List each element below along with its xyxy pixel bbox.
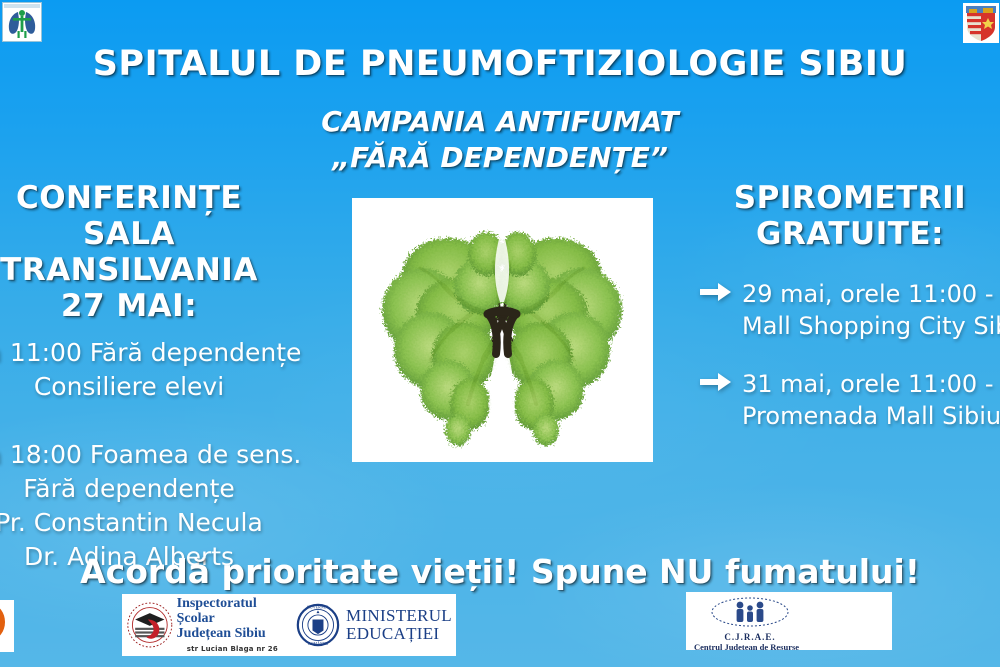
isj-line-1: Inspectoratul Școlar xyxy=(177,597,288,626)
slogan-text: Acordă prioritate vieții! Spune NU fumat… xyxy=(0,552,1000,591)
page-title: SPITALUL DE PNEUMOFTIZIOLOGIE SIBIU xyxy=(0,44,1000,84)
arrow-right-glyph xyxy=(700,282,732,302)
spirometry-entry-1-line-2: Mall Shopping City Sibiu xyxy=(700,310,1000,342)
spirometry-column: SPIROMETRII GRATUITE: 29 mai, orele 11:0… xyxy=(700,180,1000,432)
spirometry-entry-2-line-2: Promenada Mall Sibiu xyxy=(700,400,1000,432)
lungs-logo xyxy=(2,2,42,42)
spirometry-entry-2-line-1: 31 mai, orele 11:00 - 17:00 xyxy=(742,368,1000,400)
conference-event-2-line-3: Pr. Constantin Necula xyxy=(0,506,304,540)
spirometry-entry-2: 31 mai, orele 11:00 - 17:00 Promenada Ma… xyxy=(700,368,1000,432)
orange-logo-icon xyxy=(0,600,14,652)
spirometry-entry-1-line-1: 29 mai, orele 11:00 - 17:00 xyxy=(742,278,1000,310)
arrow-right-glyph xyxy=(700,372,732,392)
campaign-line-2: „FĂRĂ DEPENDENȚE” xyxy=(0,140,1000,176)
isj-address: str Lucian Blaga nr 26 xyxy=(177,645,288,653)
cjrae-acronym: C.J.R.A.E. xyxy=(686,632,814,642)
cjrae-line-1: Centrul Județean de Resurse xyxy=(686,642,892,650)
government-seal-icon: GUVERNUL ROMÂNIEI xyxy=(296,601,340,649)
spirometry-entry-1: 29 mai, orele 11:00 - 17:00 Mall Shoppin… xyxy=(700,278,1000,342)
conference-event-1: Ora 11:00 Fără dependențe Consiliere ele… xyxy=(0,336,304,404)
arrow-right-icon xyxy=(700,368,732,400)
isj-seal-icon xyxy=(126,599,174,651)
cjrae-logo-panel: C.J.R.A.E. Centrul Județean de Resurse ș… xyxy=(686,592,892,650)
ministry-line-1: MINISTERUL xyxy=(346,607,452,625)
campaign-line-1: CAMPANIA ANTIFUMAT xyxy=(0,104,1000,140)
svg-text:ROMÂNIEI: ROMÂNIEI xyxy=(308,641,329,646)
svg-text:GUVERNUL: GUVERNUL xyxy=(307,605,330,610)
campaign-subtitle: CAMPANIA ANTIFUMAT „FĂRĂ DEPENDENȚE” xyxy=(0,104,1000,176)
sibiu-county-coat-of-arms xyxy=(963,3,999,43)
conference-event-1-line-2: Consiliere elevi xyxy=(0,370,304,404)
campaign-poster: SPITALUL DE PNEUMOFTIZIOLOGIE SIBIU CAMP… xyxy=(0,0,1000,667)
tree-lungs-illustration xyxy=(352,198,653,462)
conferences-heading-line-1: CONFERINȚE xyxy=(0,180,304,216)
conference-event-2-line-1: Ora 18:00 Foamea de sens. xyxy=(0,438,304,472)
cjrae-family-icon xyxy=(686,596,892,628)
conferences-heading-line-2: SALA TRANSILVANIA xyxy=(0,216,304,288)
ministry-line-2: EDUCAȚIEI xyxy=(346,625,452,643)
isj-line-2: Județean Sibiu xyxy=(177,627,288,642)
lungs-icon xyxy=(3,3,41,41)
tree-lungs-graphic xyxy=(352,198,653,462)
spirometry-heading-line-2: GRATUITE: xyxy=(700,216,1000,252)
conference-event-2-line-2: Fără dependențe xyxy=(0,472,304,506)
isj-ministry-logo-panel: Inspectoratul Școlar Județean Sibiu str … xyxy=(122,594,456,656)
conferences-column: CONFERINȚE SALA TRANSILVANIA 27 MAI: Ora… xyxy=(0,180,304,574)
partner-logo-clipped xyxy=(0,600,14,652)
column-spacer xyxy=(0,404,304,426)
arrow-right-icon xyxy=(700,278,732,310)
shield-icon xyxy=(963,3,999,43)
spirometry-heading-line-1: SPIROMETRII xyxy=(700,180,1000,216)
conference-event-1-line-1: Ora 11:00 Fără dependențe xyxy=(0,336,304,370)
conferences-heading-line-3: 27 MAI: xyxy=(0,288,304,324)
